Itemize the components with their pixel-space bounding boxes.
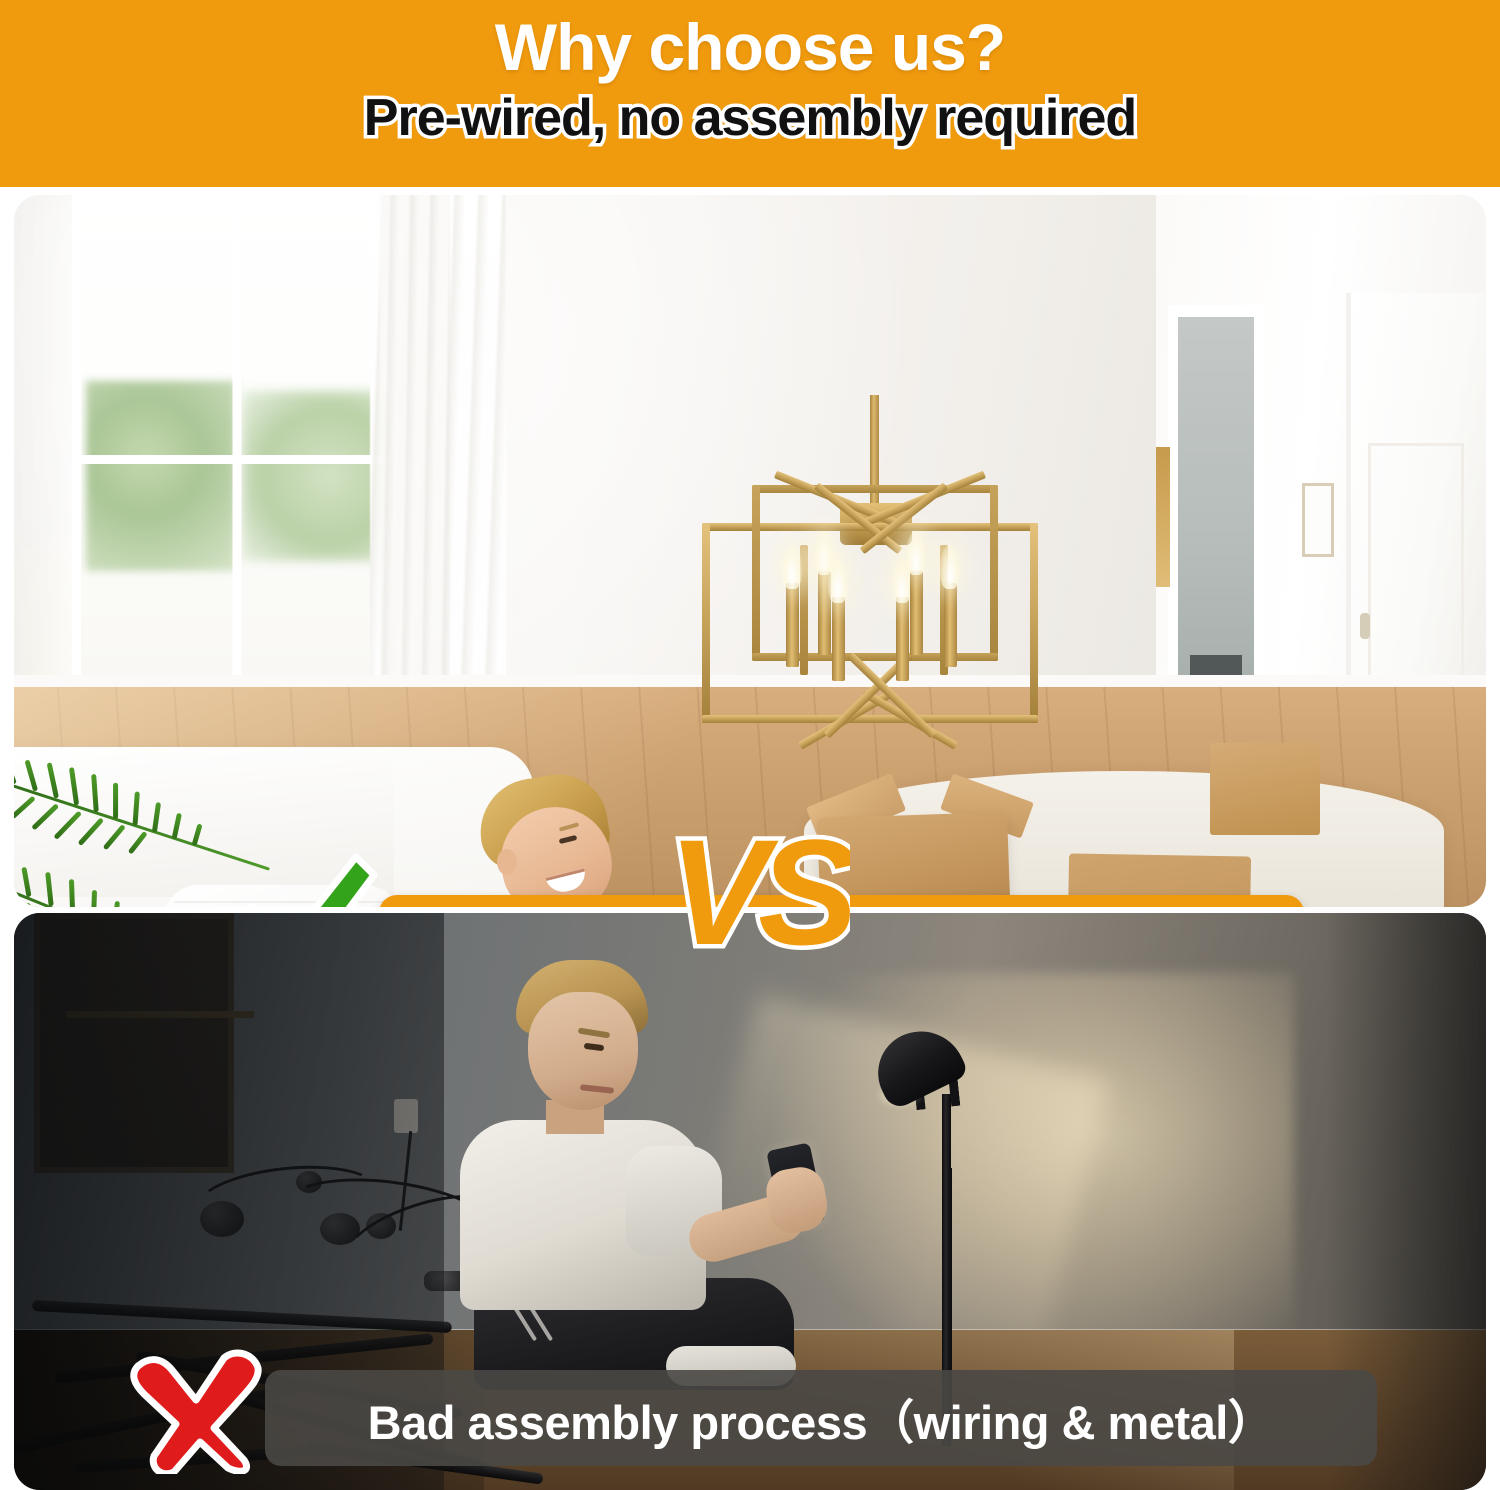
chandelier-frame-bar xyxy=(752,485,760,661)
person-frustrated xyxy=(430,960,850,1380)
bad-badge-label: Bad assembly process（wiring & metal） xyxy=(368,1384,1275,1453)
frond-leaf xyxy=(91,774,99,812)
chandelier-candle xyxy=(896,597,909,681)
frond-leaf xyxy=(78,817,104,846)
chandelier-frame-bar xyxy=(990,485,998,661)
bad-badge: Bad assembly process（wiring & metal） xyxy=(265,1370,1377,1466)
frond-leaf xyxy=(45,872,54,906)
frond-leaf xyxy=(21,867,31,897)
frond-leaf xyxy=(53,811,82,840)
green-check-icon xyxy=(220,845,380,907)
frond-leaf xyxy=(31,803,59,830)
chandelier-candle xyxy=(910,571,923,655)
chandelier-bulb xyxy=(940,545,960,589)
person-ear xyxy=(497,849,517,875)
frond-leaf xyxy=(69,879,75,907)
chandelier-candle xyxy=(786,583,799,667)
frond-leaf xyxy=(91,890,97,907)
page-subtitle: Pre-wired, no assembly required xyxy=(364,92,1136,144)
chandelier-bulb xyxy=(828,559,848,603)
frond-leaf xyxy=(113,783,118,819)
frond-leaf xyxy=(14,757,17,785)
frond-leaf xyxy=(172,813,182,839)
cardboard-box xyxy=(1210,743,1320,835)
red-x-icon xyxy=(128,1348,268,1474)
frond-leaf xyxy=(103,824,126,850)
gold-wall-frame xyxy=(1156,447,1170,587)
chandelier-bulb xyxy=(782,545,802,589)
chandelier-frame-bar xyxy=(702,523,710,723)
chandelier-product xyxy=(674,395,1074,715)
svg-text:VS: VS xyxy=(668,818,850,976)
palm-frond xyxy=(14,875,244,907)
frond-leaf xyxy=(128,831,148,855)
chandelier-frame-bar xyxy=(1030,523,1038,723)
frond-leaf xyxy=(14,796,36,820)
door-knob xyxy=(1360,613,1370,639)
chandelier-candle xyxy=(832,597,845,681)
person-face xyxy=(528,992,638,1110)
good-scene-panel: Pre-wired, no assembly required xyxy=(14,195,1486,907)
frond-leaf xyxy=(112,901,120,907)
product-comparison-infographic: Why choose us? Pre-wired, no assembly re… xyxy=(0,0,1500,1490)
frond-leaf xyxy=(24,759,38,791)
page-title: Why choose us? xyxy=(495,14,1005,80)
chandelier-bulb xyxy=(906,531,926,575)
header-banner: Why choose us? Pre-wired, no assembly re… xyxy=(0,0,1500,187)
frond-leaf xyxy=(192,823,203,846)
chandelier-candle xyxy=(944,583,957,667)
frond-leaf xyxy=(152,802,161,832)
frond-leaf xyxy=(14,902,32,907)
frond-leaf xyxy=(133,791,140,825)
wall-picture-frame xyxy=(1302,483,1334,557)
vs-divider-icon: VS xyxy=(660,818,850,988)
frond-leaf xyxy=(69,767,79,805)
frond-leaf xyxy=(47,762,59,798)
chandelier-frame-bar xyxy=(702,715,1038,723)
